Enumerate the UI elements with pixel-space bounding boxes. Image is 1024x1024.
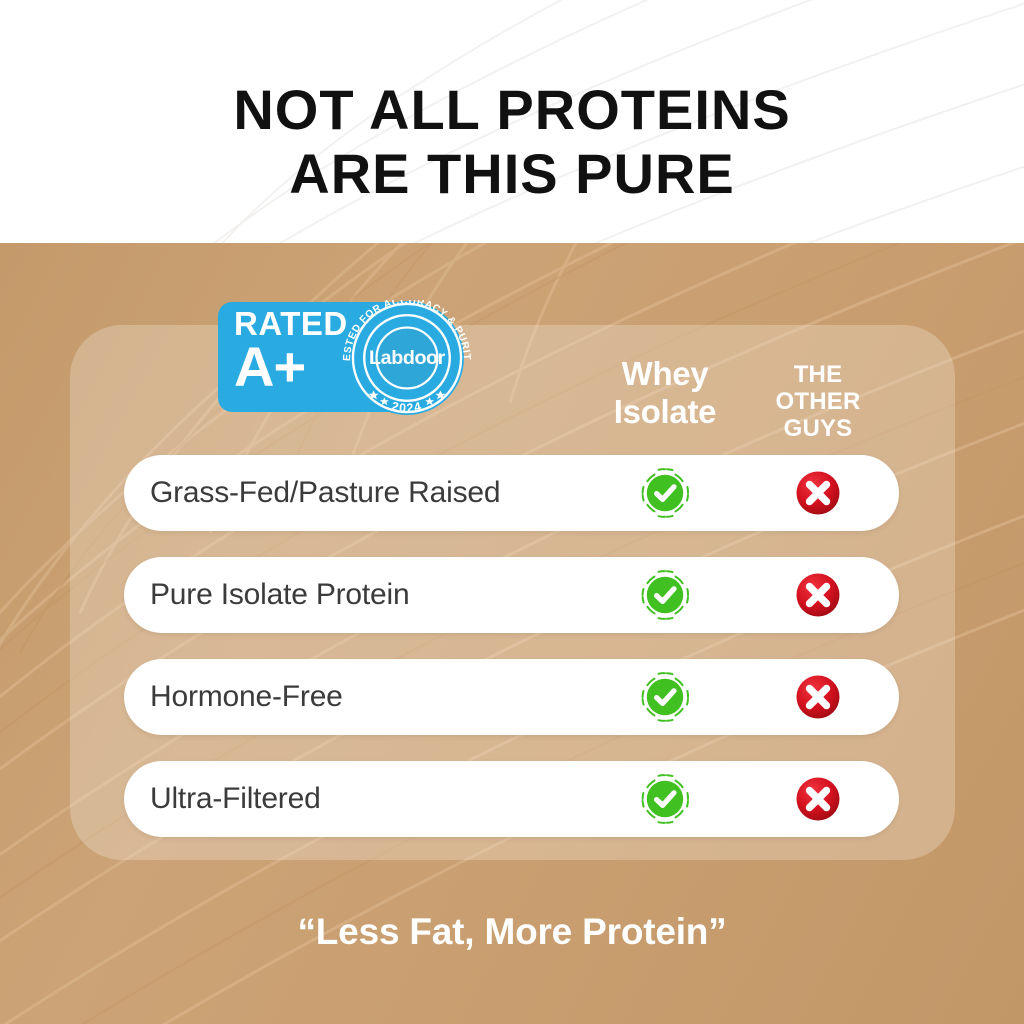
svg-text:2024: 2024 bbox=[390, 399, 424, 415]
headline-line-2: ARE THIS PURE bbox=[0, 142, 1024, 206]
red-cross-icon bbox=[790, 567, 846, 623]
column-header-product: Whey Isolate bbox=[575, 355, 755, 431]
comparison-section: RATED A+ TESTED FOR ACCURACY & PURITY 20… bbox=[0, 243, 1024, 1024]
column-header-competitor-line3: GUYS bbox=[784, 415, 853, 442]
feature-label: Pure Isolate Protein bbox=[150, 557, 409, 633]
red-cross-icon bbox=[790, 465, 846, 521]
feature-label: Grass-Fed/Pasture Raised bbox=[150, 455, 500, 531]
feature-label: Hormone-Free bbox=[150, 659, 343, 735]
table-row: Ultra-Filtered bbox=[124, 761, 899, 837]
labdoor-rating-badge: RATED A+ TESTED FOR ACCURACY & PURITY 20… bbox=[218, 300, 486, 416]
green-check-icon bbox=[637, 465, 693, 521]
seal-year: 2024 bbox=[390, 399, 424, 415]
feature-label: Ultra-Filtered bbox=[150, 761, 321, 837]
column-header-product-line1: Whey bbox=[622, 355, 709, 392]
red-cross-icon bbox=[790, 669, 846, 725]
column-header-product-line2: Isolate bbox=[614, 393, 716, 430]
seal-brand: Labdoor bbox=[369, 347, 446, 369]
table-row: Pure Isolate Protein bbox=[124, 557, 899, 633]
red-cross-icon bbox=[790, 771, 846, 827]
green-check-icon bbox=[637, 771, 693, 827]
page-title: NOT ALL PROTEINS ARE THIS PURE bbox=[0, 78, 1024, 206]
green-check-icon bbox=[637, 567, 693, 623]
infographic-canvas: NOT ALL PROTEINS ARE THIS PURE bbox=[0, 0, 1024, 1024]
table-row: Grass-Fed/Pasture Raised bbox=[124, 455, 899, 531]
column-header-competitor-line1: THE bbox=[794, 361, 843, 388]
headline-line-1: NOT ALL PROTEINS bbox=[233, 78, 790, 141]
header-band: NOT ALL PROTEINS ARE THIS PURE bbox=[0, 0, 1024, 243]
footer-tagline: “Less Fat, More Protein” bbox=[0, 911, 1024, 953]
labdoor-seal-icon: TESTED FOR ACCURACY & PURITY 2024 Labdoo… bbox=[328, 300, 486, 416]
column-header-competitor-line2: OTHER bbox=[776, 388, 861, 415]
table-row: Hormone-Free bbox=[124, 659, 899, 735]
green-check-icon bbox=[637, 669, 693, 725]
column-header-competitor: THE OTHER GUYS bbox=[752, 361, 884, 442]
